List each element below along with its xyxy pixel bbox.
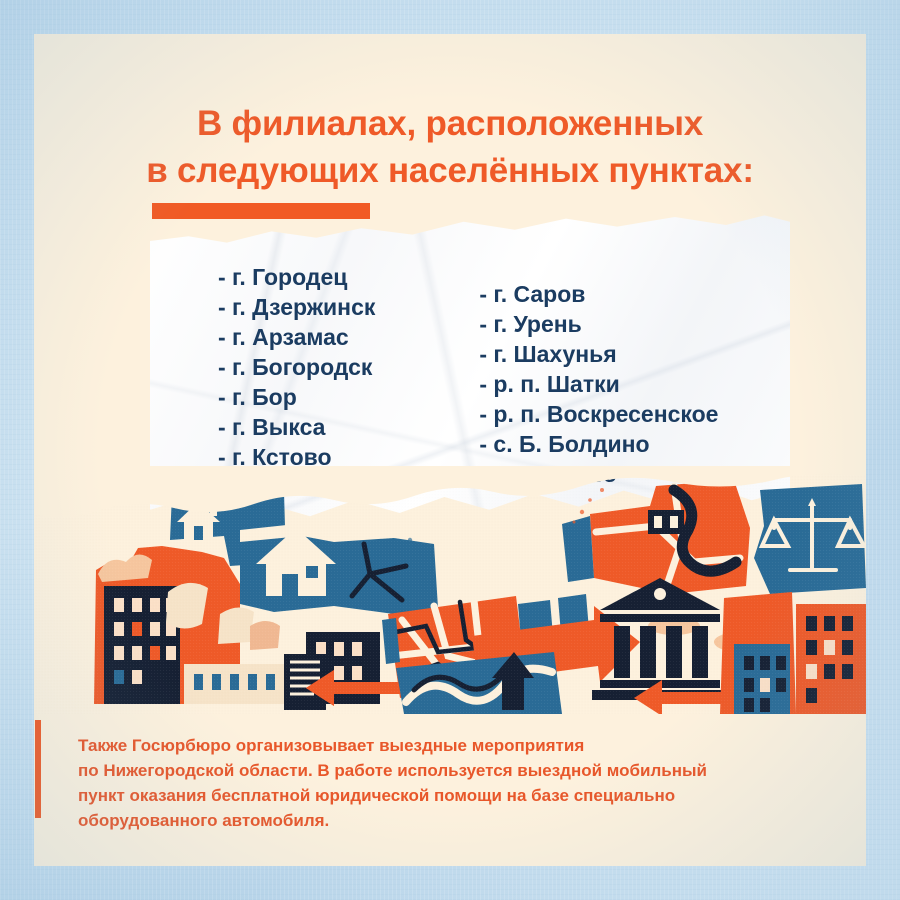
list-item: - р. п. Воскресенское — [479, 399, 718, 429]
list-item: - г. Выкса — [218, 412, 375, 442]
list-item: - г. Богородск — [218, 352, 375, 382]
footer-note-line-3: пункт оказания бесплатной юридической по… — [78, 783, 838, 808]
list-item: - г. Городец — [218, 262, 375, 292]
orange-accent-tab — [152, 203, 370, 219]
list-item: - г. Урень — [479, 309, 718, 339]
city-collage-svg — [34, 466, 866, 714]
list-item: - г. Бор — [218, 382, 375, 412]
note-accent-bar — [35, 720, 41, 818]
page-title: В филиалах, расположенных в следующих на… — [34, 101, 866, 195]
poster-root: В филиалах, расположенных в следующих на… — [0, 0, 900, 900]
footer-note: Также Госюрбюро организовывает выездные … — [78, 733, 838, 833]
footer-note-line-4: оборудованного автомобиля. — [78, 808, 838, 833]
page-title-line-2: в следующих населённых пунктах: — [34, 148, 866, 195]
list-item: - г. Арзамас — [218, 322, 375, 352]
list-item: - с. Б. Болдино — [479, 429, 718, 459]
content-card: В филиалах, расположенных в следующих на… — [34, 34, 866, 866]
list-item: - г. Саров — [479, 279, 718, 309]
list-item: - г. Шахунья — [479, 339, 718, 369]
footer-note-line-2: по Нижегородской области. В работе испол… — [78, 758, 838, 783]
page-title-line-1: В филиалах, расположенных — [34, 101, 866, 148]
list-item: - г. Дзержинск — [218, 292, 375, 322]
footer-note-line-1: Также Госюрбюро организовывает выездные … — [78, 733, 838, 758]
city-collage-illustration — [34, 466, 866, 714]
list-item: - р. п. Шатки — [479, 369, 718, 399]
